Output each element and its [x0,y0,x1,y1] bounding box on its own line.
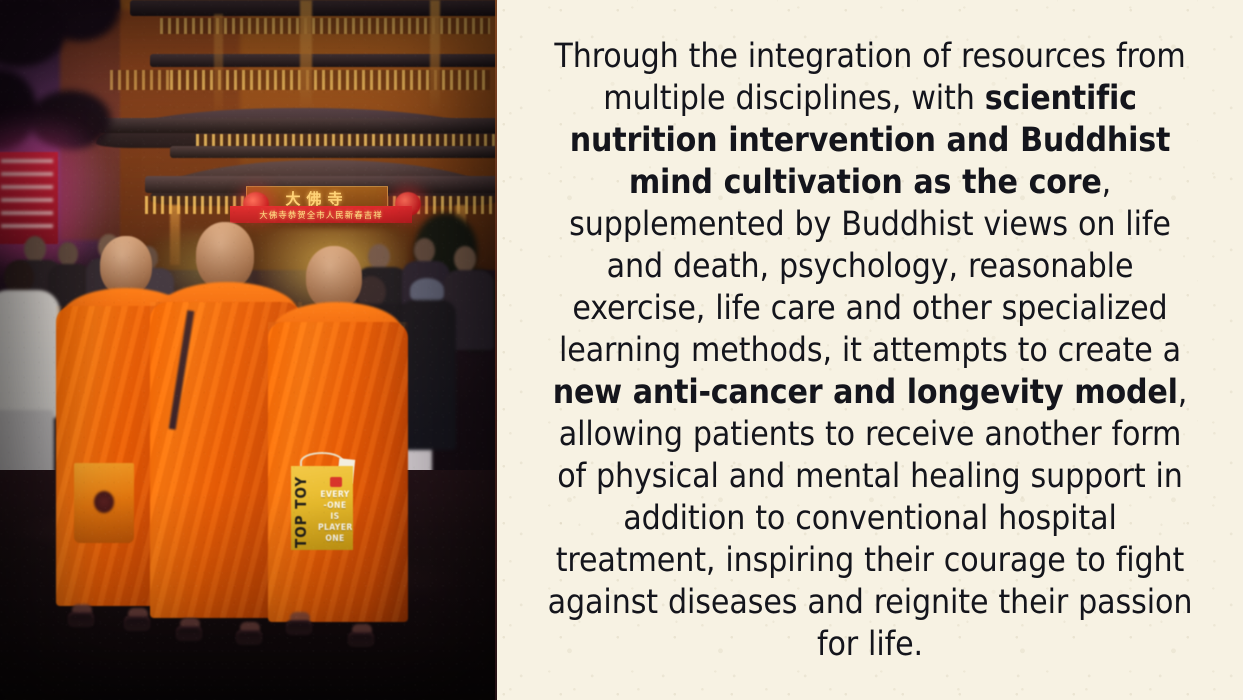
text-run: , allowing patients to receive another f… [548,372,1193,663]
emphasis-run: new anti-cancer and longevity model [553,372,1178,411]
temple-railing [160,18,490,34]
temple-eave [170,146,497,158]
temple-pillar [430,0,440,118]
new-year-banner: 大佛寺恭贺全市人民新春吉祥 [230,206,412,223]
sandal [348,632,374,647]
bag-slogan-line: EVERY [318,490,352,501]
sandal [236,630,262,645]
bag-slogan: EVERY -ONE IS PLAYER ONE [318,490,352,545]
sandal [286,620,312,635]
bag-slogan-line: PLAYER [318,523,352,534]
temple-eave [130,0,497,16]
bag-logo-mark [330,477,342,487]
temple-eave [150,54,497,67]
text-panel: Through the integration of resources fro… [497,0,1243,700]
temple-photograph: 大佛寺 大佛寺恭贺全市人民新春吉祥 [0,0,497,700]
sandal [68,612,94,627]
bag-slogan-line: IS [318,512,352,523]
led-billboard [0,152,58,244]
sandal [176,626,202,641]
bag-slogan-line: -ONE [318,501,352,512]
sandal [124,616,150,631]
body-paragraph: Through the integration of resources fro… [540,35,1200,665]
bag-slogan-line: ONE [318,534,352,545]
temple-pillar [214,14,223,114]
slide-root: 大佛寺 大佛寺恭贺全市人民新春吉祥 [0,0,1243,700]
orange-shopping-bag [74,463,134,543]
top-toy-shopping-bag: TOP TOY EVERY -ONE IS PLAYER ONE [291,466,353,550]
temple-pillar [300,0,312,120]
temple-eave [100,118,497,133]
bag-brand-label: TOP TOY [294,472,316,548]
